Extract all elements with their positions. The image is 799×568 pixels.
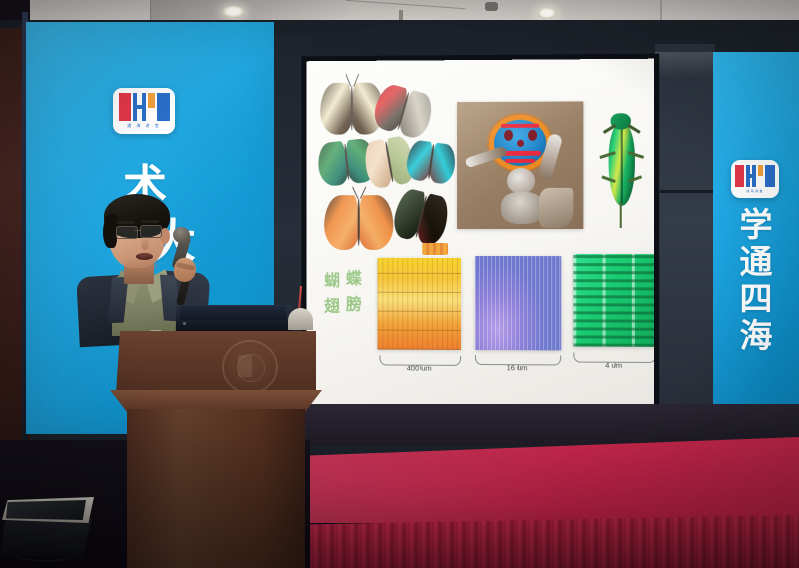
slide-caption-char: 膀 xyxy=(346,296,363,313)
hair-side xyxy=(103,214,117,248)
banner-right-slogan: 学 通 四 海 xyxy=(727,208,785,352)
jewel-beetle-photo xyxy=(598,105,645,234)
podium-top xyxy=(116,331,316,394)
butterfly-specimen xyxy=(390,187,452,248)
podium-shading xyxy=(127,409,305,568)
laptop-led-icon xyxy=(183,322,186,325)
butterfly-specimen xyxy=(405,139,458,185)
logo-glyphs xyxy=(735,165,775,188)
conference-stage-photo: 通 海 讲 堂 术 大 通海讲堂 学 通 四 海 xyxy=(0,0,799,568)
scale-label: 4 um xyxy=(573,361,654,371)
eyebrow xyxy=(141,220,159,223)
specimen-swatch xyxy=(422,243,448,255)
logo-subtitle: 通 海 讲 堂 xyxy=(127,123,161,129)
desk-microphone[interactable] xyxy=(288,308,313,330)
stage-riser xyxy=(300,404,799,446)
downlight-icon xyxy=(222,6,245,18)
slide-caption-char: 蝴 xyxy=(324,272,341,289)
logo-orange-dot xyxy=(758,165,763,177)
panel-gloss xyxy=(655,52,715,78)
logo-h-glyph xyxy=(746,165,756,188)
peacock-spider-photo xyxy=(457,101,583,229)
glasses-lens xyxy=(116,226,138,239)
wall-panel-right xyxy=(655,44,715,444)
eyebrow xyxy=(117,221,135,224)
sem-scale-ridges-purple xyxy=(475,256,561,350)
logo-blue-bar xyxy=(765,165,775,188)
hi-logo: 通 海 讲 堂 xyxy=(113,88,175,134)
slide-caption-char: 翅 xyxy=(324,298,341,315)
sem-lamellae-green xyxy=(573,254,654,347)
butterfly-collage xyxy=(318,80,452,260)
hi-logo: 通海讲堂 xyxy=(731,160,779,198)
butterfly-specimen xyxy=(324,195,393,250)
stage-monitor-grille xyxy=(6,500,86,520)
slogan-char: 通 xyxy=(740,245,773,278)
slogan-char: 学 xyxy=(740,208,773,241)
scale-label: 16 um xyxy=(475,363,559,372)
podium-emblem-core xyxy=(238,355,252,377)
sem-wing-scales-yellow xyxy=(378,258,462,350)
downlight-icon xyxy=(537,8,557,19)
logo-blue-bar xyxy=(157,93,170,121)
glasses-bridge xyxy=(135,230,141,231)
smoke-detector-icon xyxy=(485,2,498,11)
scale-label: 400 um xyxy=(379,363,459,372)
nose xyxy=(141,236,149,250)
logo-red-bar xyxy=(119,93,131,121)
logo-orange-dot xyxy=(148,93,155,107)
slogan-char: 四 xyxy=(740,282,773,315)
logo-h-glyph xyxy=(133,93,146,121)
logo-subtitle: 通海讲堂 xyxy=(746,189,764,193)
chin xyxy=(124,258,158,272)
panel-seam xyxy=(660,190,716,193)
logo-red-bar xyxy=(735,165,744,188)
projection-screen: 400 um 16 um 4 um 蝴 蝶 翅 膀 xyxy=(306,59,654,407)
slide-caption-char: 蝶 xyxy=(346,270,363,287)
logo-glyphs xyxy=(119,93,170,121)
laptop-screen[interactable] xyxy=(180,306,286,320)
slogan-char: 海 xyxy=(740,319,773,352)
cable xyxy=(10,540,80,562)
